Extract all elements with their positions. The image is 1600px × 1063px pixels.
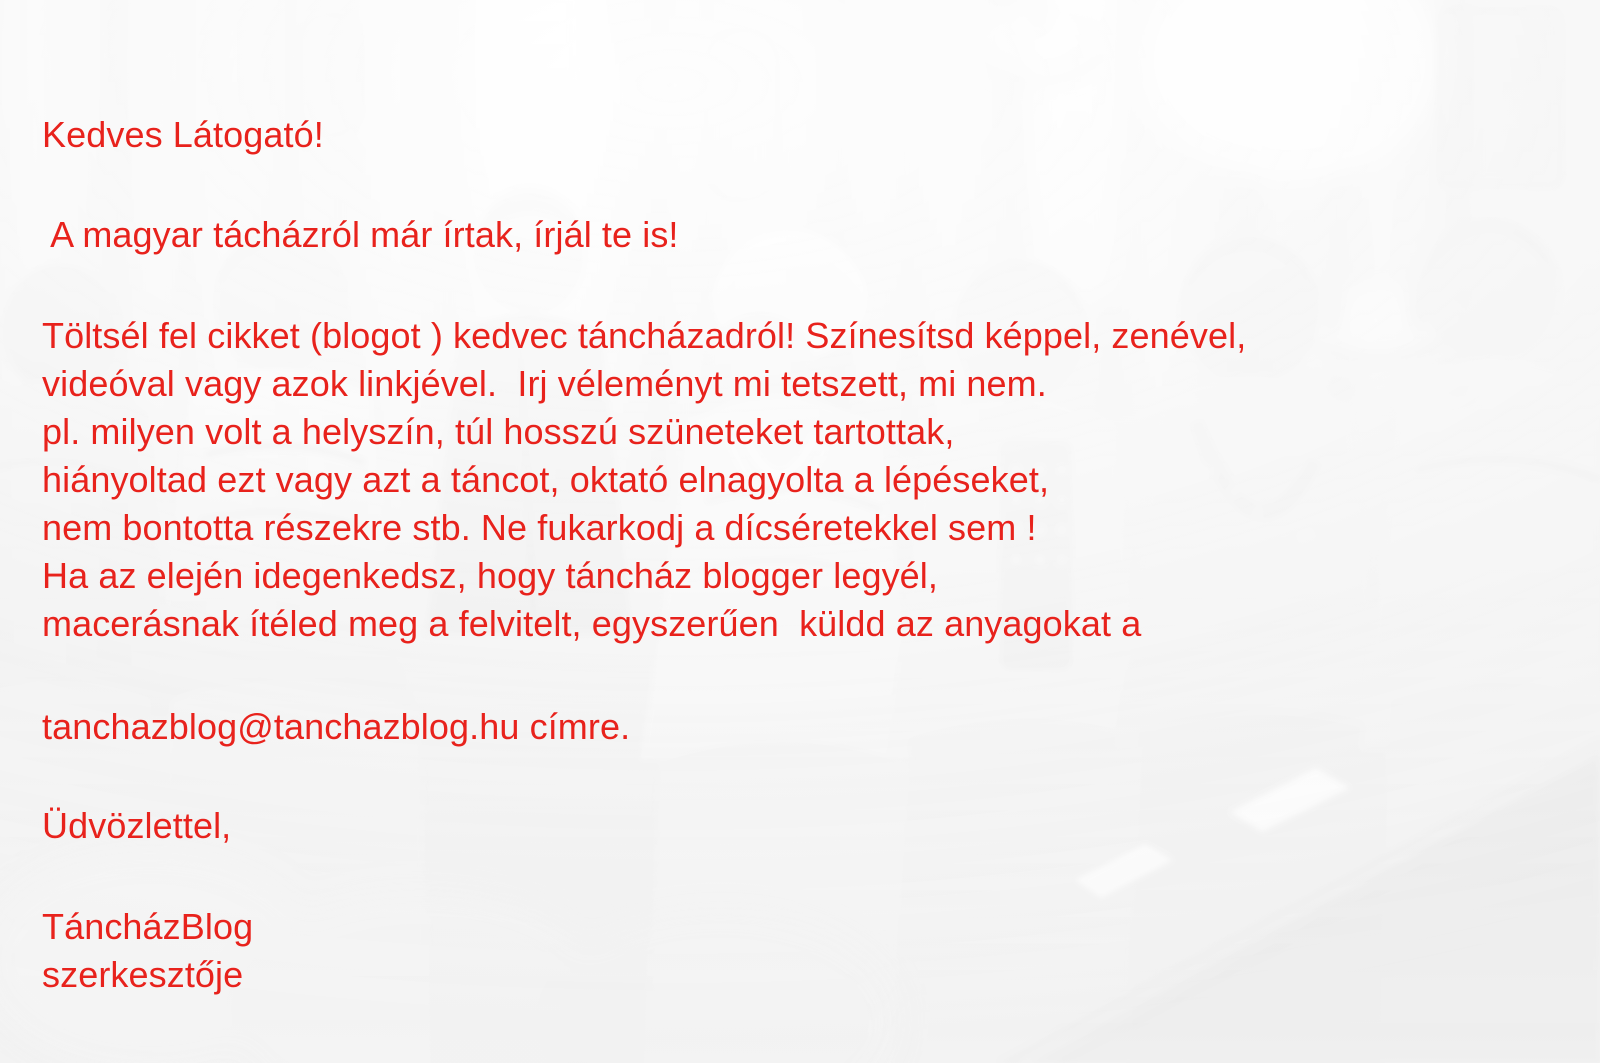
- poster-canvas: Kedves Látogató! A magyar tácházról már …: [0, 0, 1600, 1063]
- background-photograph: [0, 0, 1600, 1063]
